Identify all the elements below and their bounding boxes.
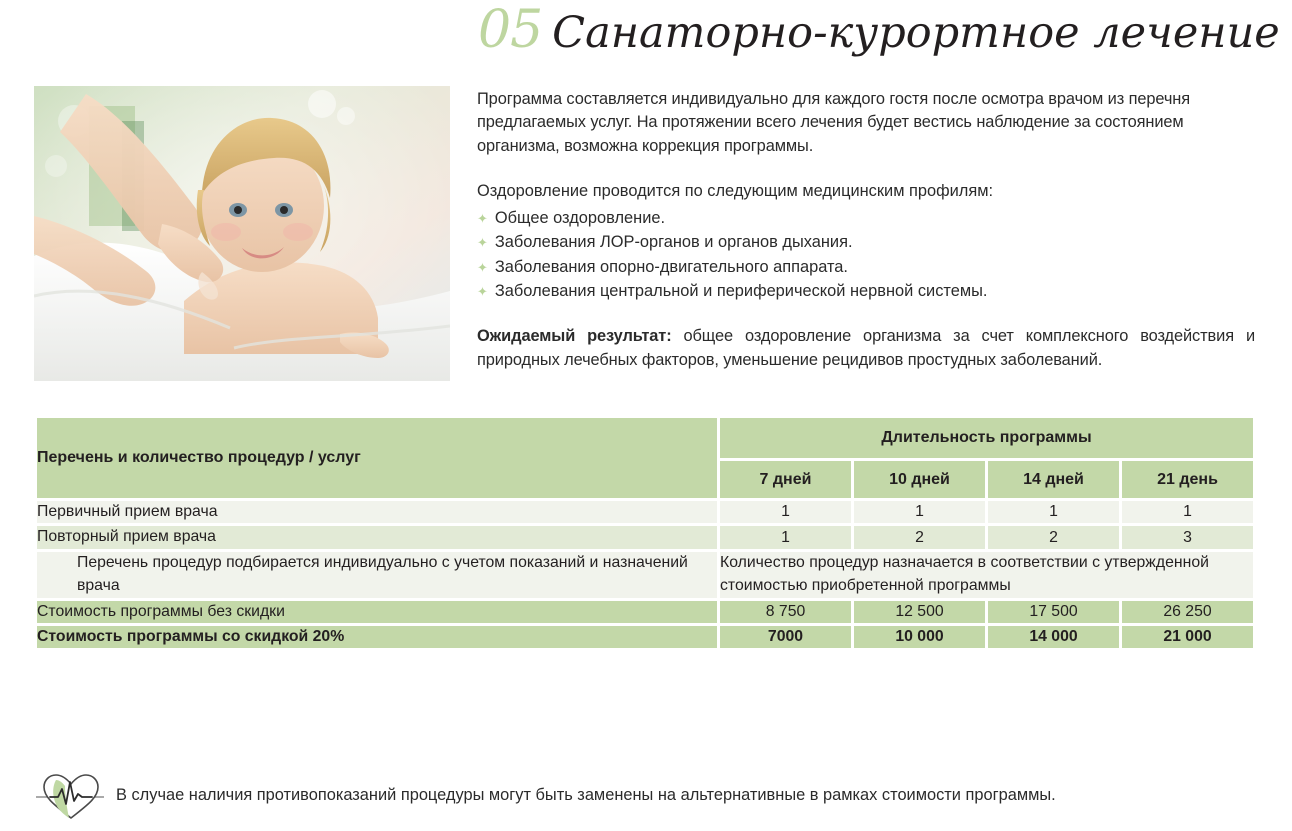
row-value: 12 500	[854, 601, 985, 623]
page-title: Санаторно-курортное лечение	[552, 12, 1280, 55]
row-value: 1	[720, 501, 851, 523]
intro-paragraph: Программа составляется индивидуально для…	[477, 88, 1255, 158]
table-row: Стоимость программы без скидки 8 750 12 …	[37, 601, 1253, 623]
list-item-label: Заболевания опорно-двигательного аппарат…	[495, 255, 848, 279]
row-value: 7000	[720, 626, 851, 648]
table-row: Первичный прием врача 1 1 1 1	[37, 501, 1253, 523]
expected-result-block: Ожидаемый результат: общее оздоровление …	[477, 325, 1255, 372]
table-column-header: 21 день	[1122, 461, 1253, 498]
list-item-label: Заболевания центральной и периферической…	[495, 279, 988, 303]
star-bullet-icon: ✦	[477, 285, 488, 298]
list-item: ✦ Заболевания опорно-двигательного аппар…	[477, 255, 1255, 279]
row-value: 10 000	[854, 626, 985, 648]
star-bullet-icon: ✦	[477, 236, 488, 249]
photo-illustration	[34, 86, 450, 381]
table-row: Повторный прием врача 1 2 2 3	[37, 526, 1253, 548]
row-label: Повторный прием врача	[37, 526, 717, 548]
row-value: 2	[854, 526, 985, 548]
table-row: Стоимость программы со скидкой 20% 7000 …	[37, 626, 1253, 648]
page-header: 05 Санаторно-курортное лечение	[478, 4, 1280, 56]
spacer	[477, 158, 1255, 180]
list-item: ✦ Заболевания ЛОР-органов и органов дыха…	[477, 230, 1255, 254]
list-item: ✦ Заболевания центральной и периферическ…	[477, 279, 1255, 303]
row-value: 3	[1122, 526, 1253, 548]
row-label: Стоимость программы со скидкой 20%	[37, 626, 717, 648]
medical-profiles-list: ✦ Общее оздоровление. ✦ Заболевания ЛОР-…	[477, 206, 1255, 304]
note-right: Количество процедур назначается в соотве…	[720, 552, 1253, 598]
list-item-label: Заболевания ЛОР-органов и органов дыхани…	[495, 230, 853, 254]
row-value: 2	[988, 526, 1119, 548]
heart-pulse-icon	[34, 768, 108, 824]
footer-text: В случае наличия противопоказаний процед…	[116, 785, 1056, 806]
list-item: ✦ Общее оздоровление.	[477, 206, 1255, 230]
row-value: 1	[720, 526, 851, 548]
row-label: Первичный прием врача	[37, 501, 717, 523]
expected-result-label: Ожидаемый результат:	[477, 327, 672, 345]
row-value: 17 500	[988, 601, 1119, 623]
table-header-group: Длительность программы	[720, 418, 1253, 458]
section-number: 05	[478, 4, 542, 56]
row-value: 14 000	[988, 626, 1119, 648]
note-left: Перечень процедур подбирается индивидуал…	[37, 552, 717, 598]
table-column-header: 14 дней	[988, 461, 1119, 498]
table-header-main: Перечень и количество процедур / услуг	[37, 418, 717, 498]
star-bullet-icon: ✦	[477, 261, 488, 274]
star-bullet-icon: ✦	[477, 212, 488, 225]
row-value: 1	[1122, 501, 1253, 523]
row-label: Стоимость программы без скидки	[37, 601, 717, 623]
table-header-row-1: Перечень и количество процедур / услуг Д…	[37, 418, 1253, 458]
footer-note: В случае наличия противопоказаний процед…	[34, 768, 1256, 824]
row-value: 21 000	[1122, 626, 1253, 648]
row-value: 26 250	[1122, 601, 1253, 623]
intro-text-column: Программа составляется индивидуально для…	[477, 88, 1255, 372]
expected-result-paragraph: Ожидаемый результат: общее оздоровление …	[477, 325, 1255, 372]
profiles-lead: Оздоровление проводится по следующим мед…	[477, 180, 1255, 204]
row-value: 8 750	[720, 601, 851, 623]
table-column-header: 10 дней	[854, 461, 985, 498]
program-price-table: Перечень и количество процедур / услуг Д…	[34, 415, 1256, 651]
row-value: 1	[988, 501, 1119, 523]
list-item-label: Общее оздоровление.	[495, 206, 665, 230]
child-massage-photo	[34, 86, 450, 381]
table-column-header: 7 дней	[720, 461, 851, 498]
row-value: 1	[854, 501, 985, 523]
table-note-row: Перечень процедур подбирается индивидуал…	[37, 552, 1253, 598]
